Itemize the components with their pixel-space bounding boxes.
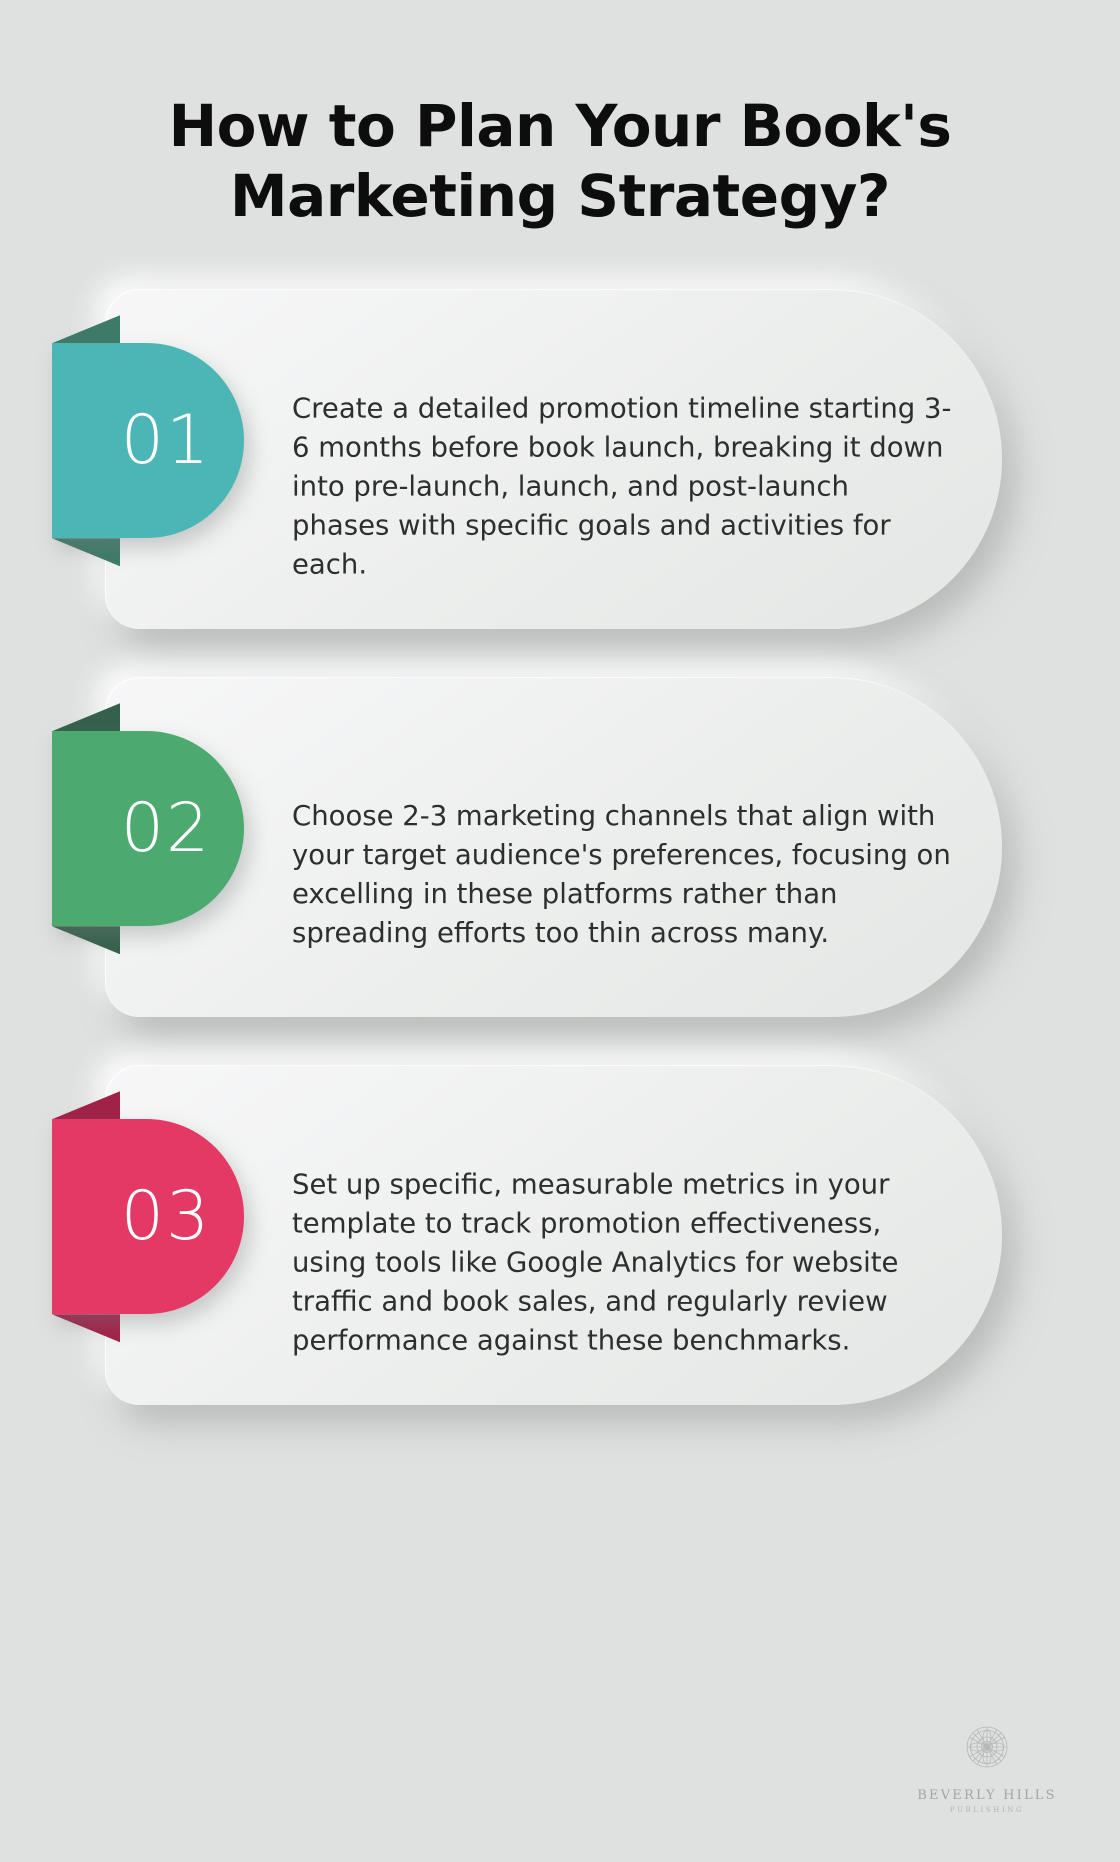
badge-fold-top <box>52 315 120 343</box>
page-title-line-1: How to Plan Your Book's <box>120 92 1000 162</box>
page-title-line-2: Marketing Strategy? <box>120 162 1000 232</box>
step-item: 02 Choose 2-3 marketing channels that al… <box>0 677 1120 1017</box>
steps-list: 01 Create a detailed promotion timeline … <box>0 289 1120 1405</box>
step-number-badge: 01 <box>52 343 244 538</box>
step-description: Set up specific, measurable metrics in y… <box>292 1165 952 1360</box>
mandala-emblem-icon <box>912 1719 1062 1780</box>
badge-fold-top <box>52 1091 120 1119</box>
badge-fold-bottom <box>52 1314 120 1342</box>
badge-fold-top <box>52 703 120 731</box>
step-item: 01 Create a detailed promotion timeline … <box>0 289 1120 629</box>
step-number-badge: 02 <box>52 731 244 926</box>
step-description: Create a detailed promotion timeline sta… <box>292 389 952 584</box>
step-description: Choose 2-3 marketing channels that align… <box>292 797 952 953</box>
badge-fold-bottom <box>52 538 120 566</box>
step-number-badge: 03 <box>52 1119 244 1314</box>
brand-name: BEVERLY HILLS <box>912 1788 1062 1803</box>
brand-subtitle: PUBLISHING <box>912 1806 1062 1814</box>
step-item: 03 Set up specific, measurable metrics i… <box>0 1065 1120 1405</box>
footer-logo: BEVERLY HILLS PUBLISHING <box>912 1719 1062 1814</box>
step-number-label: 03 <box>85 1183 212 1251</box>
page-title: How to Plan Your Book's Marketing Strate… <box>0 0 1120 231</box>
step-number-label: 01 <box>85 407 212 475</box>
step-number-label: 02 <box>85 795 212 863</box>
badge-fold-bottom <box>52 926 120 954</box>
